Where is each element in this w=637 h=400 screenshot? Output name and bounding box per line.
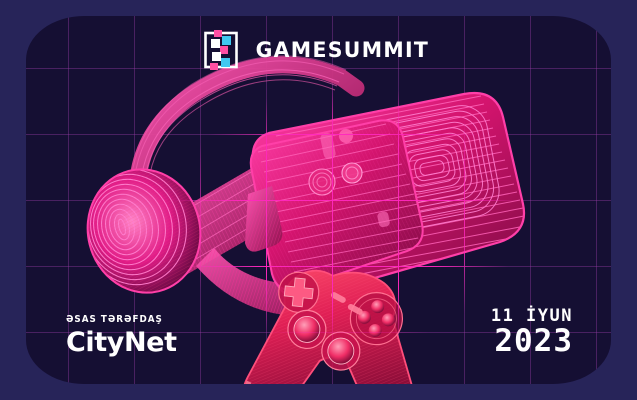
brand-header: GAMESUMMIT — [26, 30, 611, 70]
event-date-block: 11 İYUN 2023 — [491, 307, 573, 358]
gamesummit-s-monogram-icon — [204, 30, 238, 70]
sponsor-name: CityNet — [66, 329, 177, 356]
event-poster: GAMESUMMIT ƏSAS TƏRƏFDAŞ CityNet 11 İYUN… — [0, 0, 637, 400]
brand-wordmark: GAMESUMMIT — [255, 38, 429, 63]
event-date-year: 2023 — [491, 325, 573, 358]
sponsor-block: ƏSAS TƏRƏFDAŞ CityNet — [66, 314, 177, 356]
sponsor-label: ƏSAS TƏRƏFDAŞ — [66, 314, 168, 325]
crt-screen: GAMESUMMIT ƏSAS TƏRƏFDAŞ CityNet 11 İYUN… — [26, 16, 611, 384]
